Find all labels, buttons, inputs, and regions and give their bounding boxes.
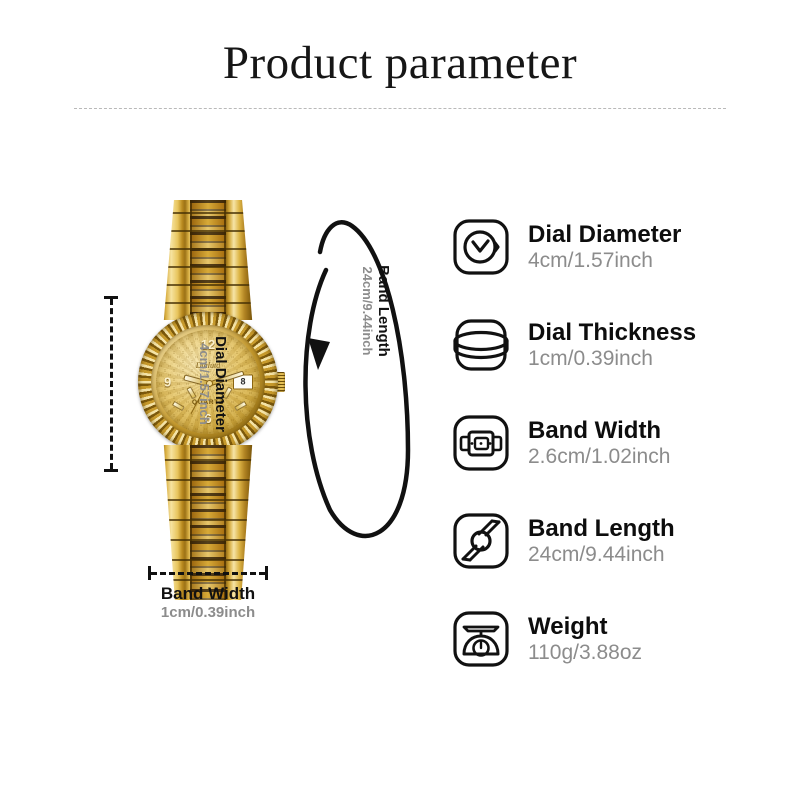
spec-row-dial-diameter: Dial Diameter 4cm/1.57inch bbox=[452, 198, 788, 296]
kitchen-scale-icon bbox=[452, 610, 510, 668]
spec-label-band-length: Band Length bbox=[528, 515, 675, 542]
title-divider bbox=[74, 108, 726, 109]
spec-text-band-length: Band Length 24cm/9.44inch bbox=[528, 515, 675, 566]
spec-value-weight: 110g/3.88oz bbox=[528, 641, 642, 665]
spec-label-band-width: Band Width bbox=[528, 417, 670, 444]
watch-strap-icon bbox=[452, 512, 510, 570]
spec-text-dial-thickness: Dial Thickness 1cm/0.39inch bbox=[528, 319, 696, 370]
band-length-callout-value: 24cm/9.44inch bbox=[360, 211, 375, 411]
page-title: Product parameter bbox=[0, 36, 800, 90]
band-width-callout-value: 1cm/0.39inch bbox=[108, 604, 308, 622]
spec-row-band-length: Band Length 24cm/9.44inch bbox=[452, 492, 788, 590]
product-parameter-page: Product parameter bbox=[0, 0, 800, 800]
spec-label-dial-diameter: Dial Diameter bbox=[528, 221, 681, 248]
band-width-measure-line bbox=[148, 566, 268, 580]
spec-value-dial-thickness: 1cm/0.39inch bbox=[528, 347, 696, 371]
dial-numeral-9: 9 bbox=[164, 376, 171, 389]
spec-row-weight: Weight 110g/3.88oz bbox=[452, 590, 788, 688]
spec-list: Dial Diameter 4cm/1.57inch Dial Thicknes… bbox=[452, 198, 788, 688]
watch-dial-icon bbox=[452, 218, 510, 276]
band-width-callout-label: Band Width bbox=[108, 584, 308, 604]
band-width-callout: Band Width 1cm/0.39inch bbox=[108, 584, 308, 622]
spec-text-band-width: Band Width 2.6cm/1.02inch bbox=[528, 417, 670, 468]
spec-label-weight: Weight bbox=[528, 613, 642, 640]
spec-value-band-length: 24cm/9.44inch bbox=[528, 543, 675, 567]
band-length-callout-label: Band Length bbox=[374, 211, 391, 411]
dial-diameter-callout-label: Dial Diameter bbox=[211, 296, 228, 472]
spec-text-weight: Weight 110g/3.88oz bbox=[528, 613, 642, 664]
band-length-callout: Band Length 24cm/9.44inch bbox=[345, 211, 391, 411]
spec-text-dial-diameter: Dial Diameter 4cm/1.57inch bbox=[528, 221, 681, 272]
dial-diameter-callout-value: 4cm/1.57inch bbox=[197, 296, 212, 472]
spec-row-band-width: Band Width 2.6cm/1.02inch bbox=[452, 394, 788, 492]
dial-diameter-measure-line bbox=[104, 296, 118, 472]
spec-value-band-width: 2.6cm/1.02inch bbox=[528, 445, 670, 469]
cylinder-icon bbox=[452, 316, 510, 374]
spec-row-dial-thickness: Dial Thickness 1cm/0.39inch bbox=[452, 296, 788, 394]
spec-label-dial-thickness: Dial Thickness bbox=[528, 319, 696, 346]
watch-clasp-icon bbox=[452, 414, 510, 472]
watch-illustration: 12 9 6 Dialutd QUARTZ 8 bbox=[0, 160, 440, 680]
dial-diameter-callout: Dial Diameter 4cm/1.57inch bbox=[180, 296, 228, 472]
spec-value-dial-diameter: 4cm/1.57inch bbox=[528, 249, 681, 273]
